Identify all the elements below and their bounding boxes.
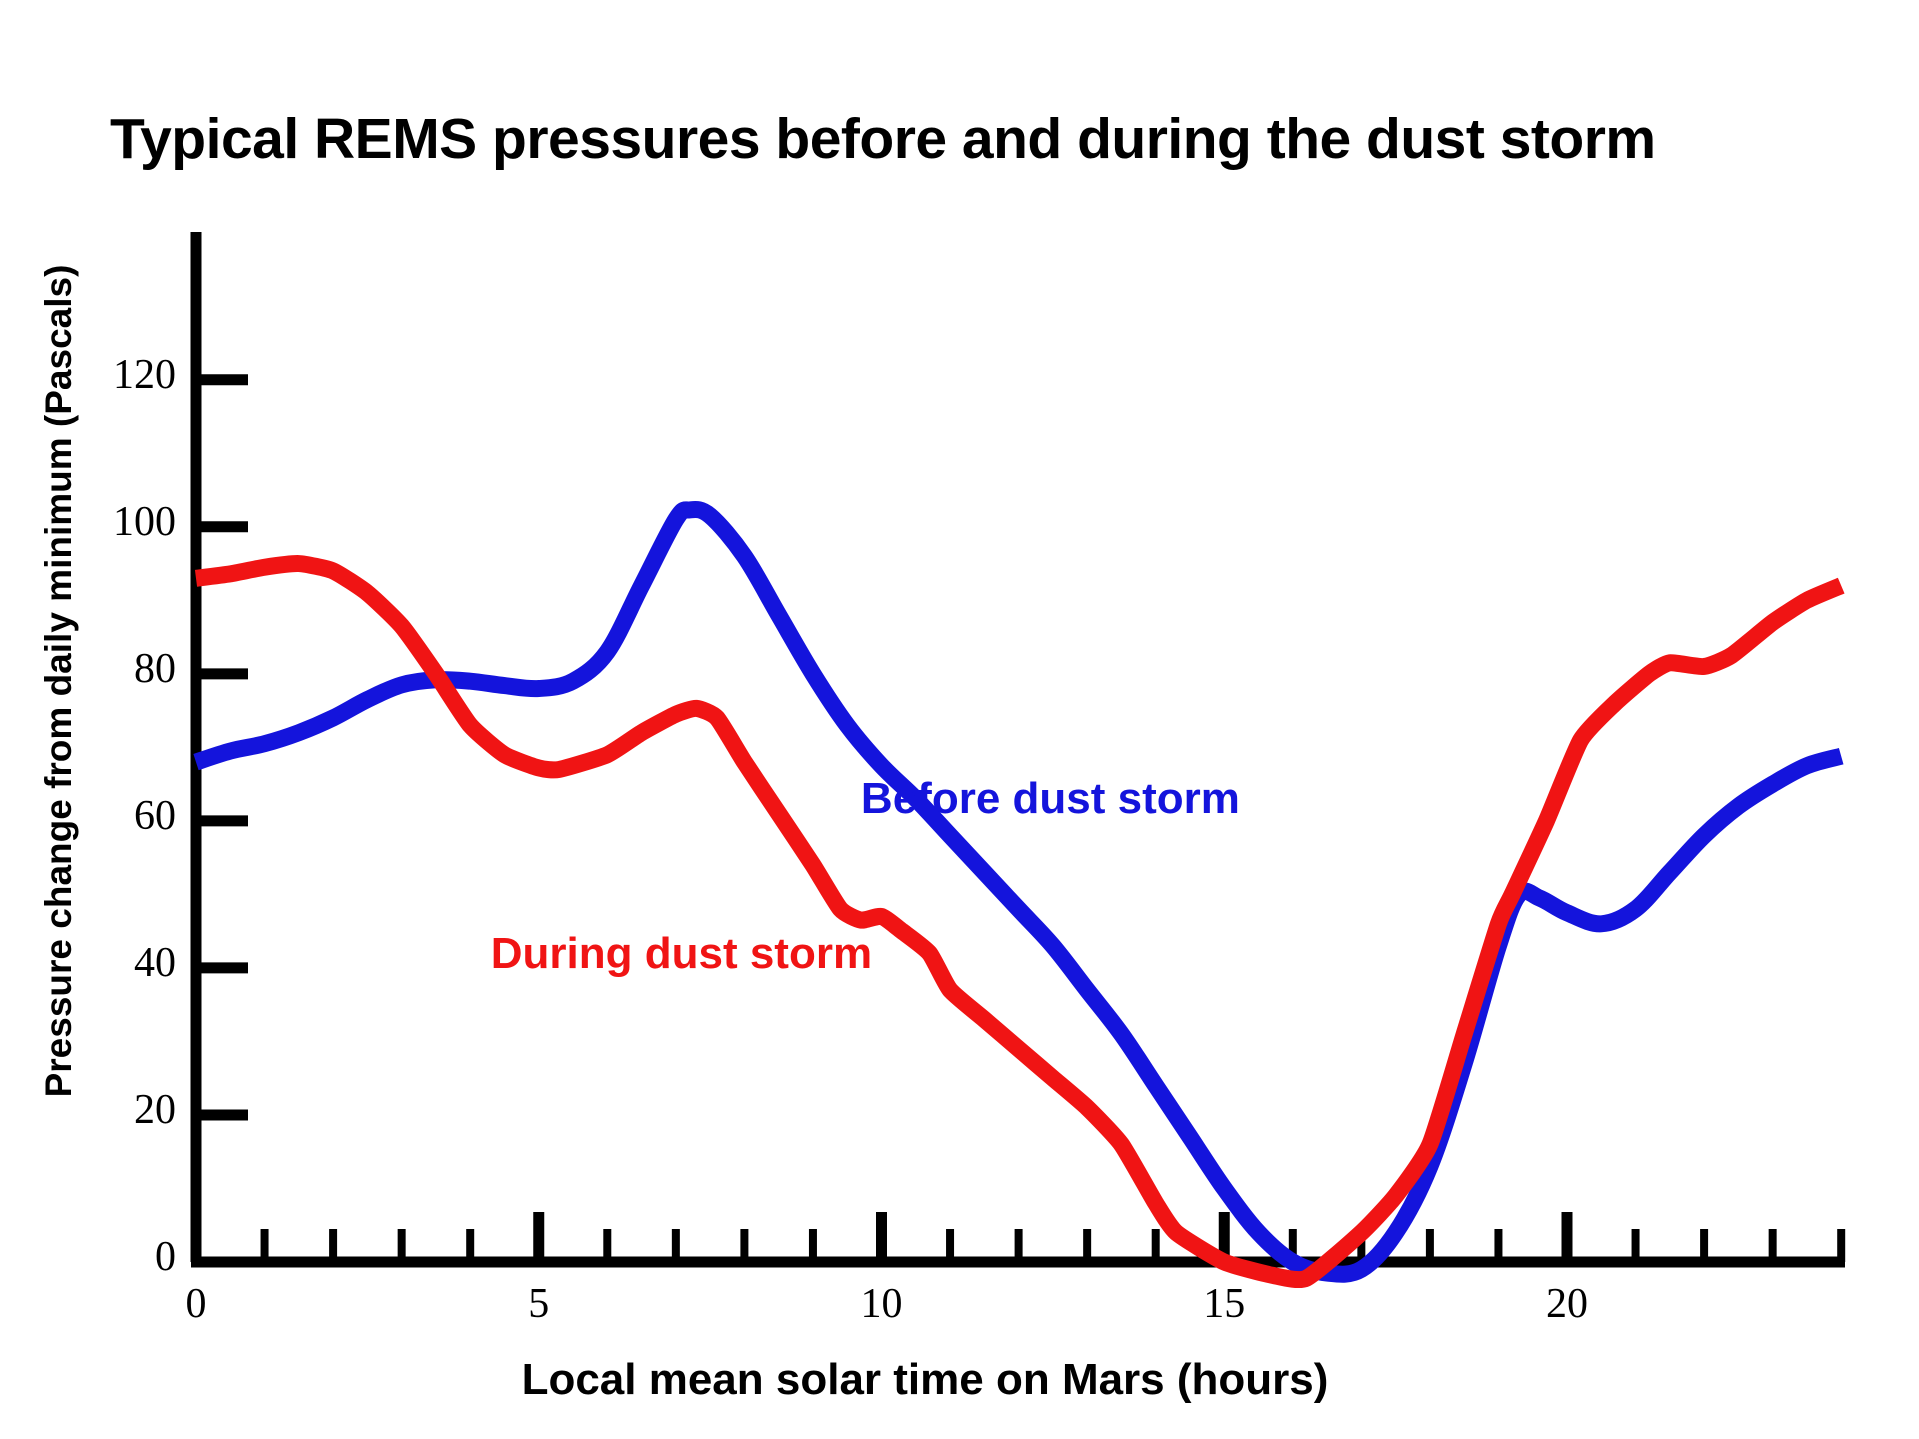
series-label-during-dust-storm: During dust storm	[491, 929, 872, 979]
y-tick-label: 20	[56, 1086, 176, 1134]
y-tick-label: 0	[56, 1233, 176, 1281]
y-tick-label: 40	[56, 939, 176, 987]
x-tick-label: 5	[479, 1280, 599, 1328]
axis-lines	[191, 232, 1845, 1262]
series-label-before-dust-storm: Before dust storm	[861, 774, 1240, 824]
y-axis-ticks	[196, 380, 248, 1262]
y-tick-label: 80	[56, 645, 176, 693]
y-tick-label: 120	[56, 351, 176, 399]
x-tick-label: 0	[136, 1280, 256, 1328]
series-paths	[196, 509, 1841, 1279]
y-tick-label: 100	[56, 498, 176, 546]
y-tick-label: 60	[56, 792, 176, 840]
x-tick-label: 15	[1164, 1280, 1284, 1328]
x-axis-ticks	[265, 1212, 1842, 1262]
chart-figure: Typical REMS pressures before and during…	[0, 0, 1919, 1439]
series-line-before	[196, 509, 1841, 1274]
x-tick-label: 20	[1507, 1280, 1627, 1328]
x-tick-label: 10	[822, 1280, 942, 1328]
plot-area	[0, 0, 1919, 1439]
